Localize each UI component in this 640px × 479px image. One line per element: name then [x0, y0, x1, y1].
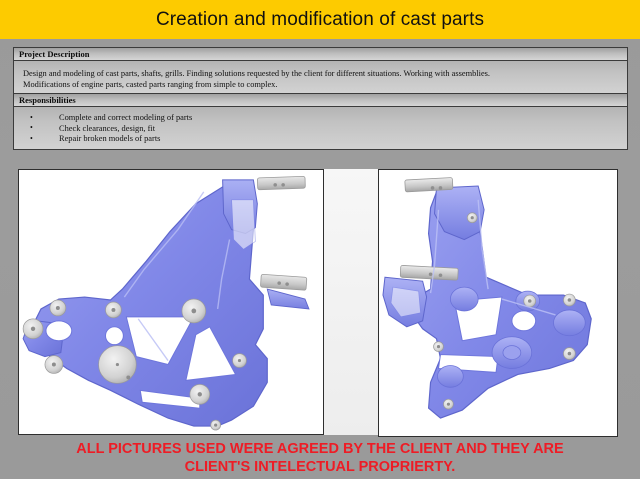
cad-image-left: [18, 169, 324, 435]
info-panel: Project Description Design and modeling …: [13, 47, 628, 150]
project-description-header: Project Description: [14, 48, 627, 61]
cad-image-right: [378, 169, 618, 437]
project-description-body: Design and modeling of cast parts, shaft…: [14, 61, 627, 94]
responsibilities-list: Complete and correct modeling of parts C…: [23, 113, 619, 145]
responsibilities-heading: Responsibilities: [19, 96, 76, 105]
list-item: Complete and correct modeling of parts: [23, 113, 619, 124]
list-item: Repair broken models of parts: [23, 134, 619, 145]
responsibilities-header: Responsibilities: [14, 94, 627, 107]
project-description-heading: Project Description: [19, 50, 89, 59]
slide-canvas: Creation and modification of cast parts …: [0, 0, 640, 479]
list-item: Check clearances, design, fit: [23, 124, 619, 135]
project-description-line-1: Design and modeling of cast parts, shaft…: [23, 68, 619, 79]
image-area-backdrop: [324, 169, 378, 435]
responsibilities-body: Complete and correct modeling of parts C…: [14, 107, 627, 149]
page-title: Creation and modification of cast parts: [156, 9, 484, 31]
cad-part-right-illustration: [379, 170, 617, 436]
copyright-notice: ALL PICTURES USED WERE AGREED BY THE CLI…: [0, 440, 640, 476]
notice-line-1: ALL PICTURES USED WERE AGREED BY THE CLI…: [0, 440, 640, 458]
project-description-line-2: Modifications of engine parts, casted pa…: [23, 79, 619, 90]
cad-part-left-illustration: [19, 170, 323, 434]
notice-line-2: CLIENT'S INTELECTUAL PROPRIERTY.: [0, 458, 640, 476]
slide-title-bar: Creation and modification of cast parts: [0, 0, 640, 39]
